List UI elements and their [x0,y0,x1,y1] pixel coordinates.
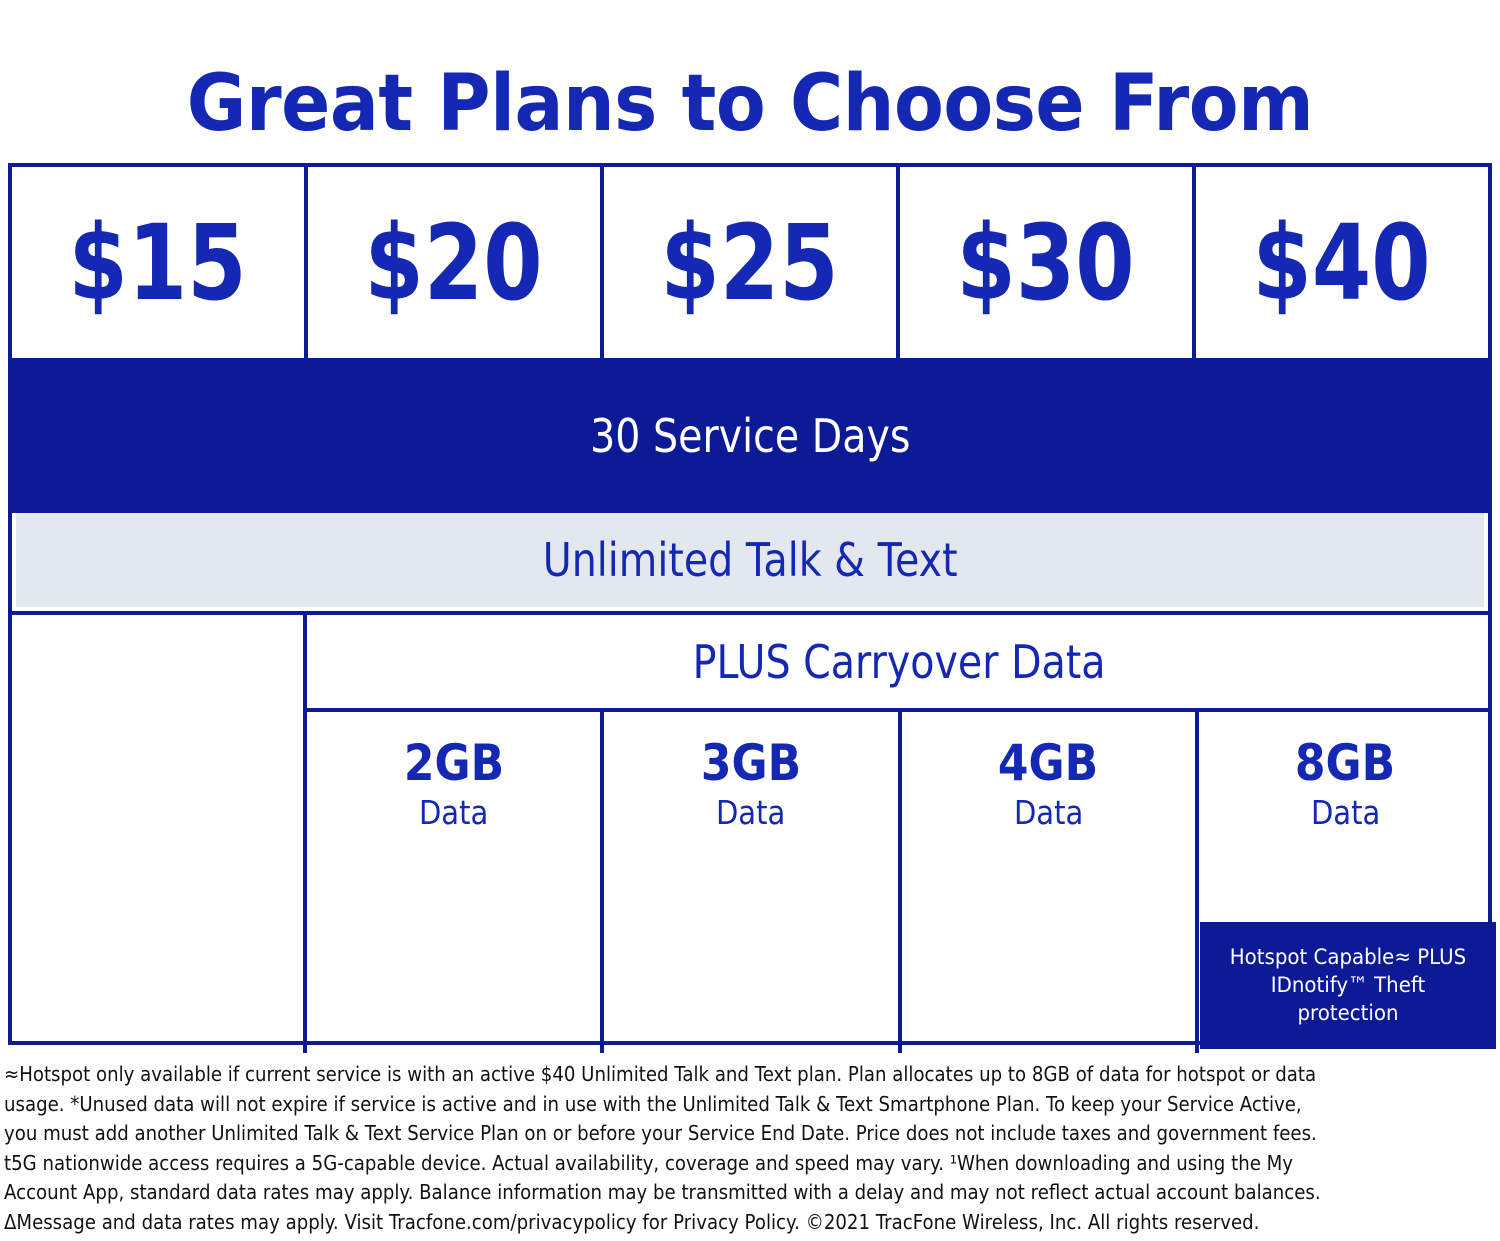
data-unit-label: Data [325,792,583,834]
price-cell-40[interactable]: $40 [1196,167,1488,358]
page-title: Great Plans to Choose From [53,54,1448,154]
legal-footnote: ≈Hotspot only available if current servi… [4,1060,1321,1237]
hotspot-callout-label: Hotspot Capable≈ PLUS IDnotify™ Theft pr… [1217,944,1478,1028]
service-days-label: 30 Service Days [590,410,910,462]
unlimited-talk-text-row: Unlimited Talk & Text [16,513,1484,607]
carryover-data-row: PLUS Carryover Data [307,615,1492,712]
service-days-row: 30 Service Days [8,358,1492,513]
hotspot-callout: Hotspot Capable≈ PLUS IDnotify™ Theft pr… [1200,922,1496,1049]
data-cell-content: 4GB Data [902,734,1195,834]
data-cell-20[interactable]: 2GB Data [307,712,604,1053]
price-label: $15 [69,211,247,315]
data-unit-label: Data [919,792,1177,834]
price-label: $20 [365,211,543,315]
price-cell-25[interactable]: $25 [604,167,900,358]
data-unit-label: Data [1216,792,1474,834]
data-amount: 3GB [701,734,801,792]
data-cell-content: 8GB Data [1199,734,1492,834]
price-label: $25 [661,211,839,315]
price-label: $30 [957,211,1135,315]
price-cell-30[interactable]: $30 [900,167,1196,358]
data-cell-30[interactable]: 4GB Data [902,712,1199,1053]
unlimited-talk-text-label: Unlimited Talk & Text [543,534,958,586]
data-amount: 8GB [1295,734,1395,792]
data-amount: 4GB [998,734,1098,792]
empty-cell-plan-15 [8,615,307,1053]
data-unit-label: Data [622,792,880,834]
data-cell-content: 3GB Data [604,734,897,834]
price-cell-15[interactable]: $15 [12,167,308,358]
price-row: $15 $20 $25 $30 $40 [12,167,1488,358]
price-label: $40 [1253,211,1431,315]
data-cell-content: 2GB Data [307,734,600,834]
data-amount: 2GB [403,734,503,792]
carryover-data-label: PLUS Carryover Data [693,636,1106,688]
data-cell-25[interactable]: 3GB Data [604,712,901,1053]
plan-comparison-table: $15 $20 $25 $30 $40 30 Service Days Unli… [8,163,1492,1045]
price-cell-20[interactable]: $20 [308,167,604,358]
